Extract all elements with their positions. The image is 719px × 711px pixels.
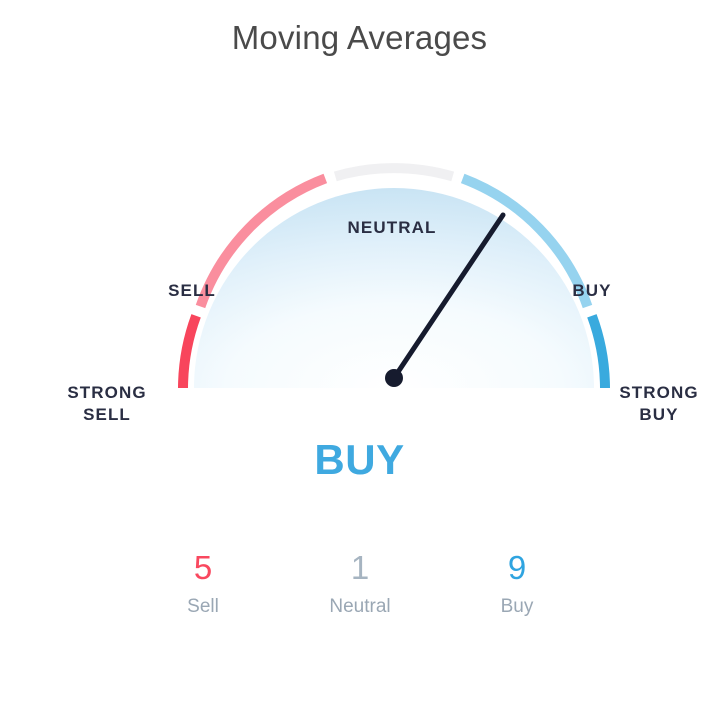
- verdict-text: BUY: [0, 436, 719, 484]
- gauge-needle-hub: [385, 369, 403, 387]
- counter-sell-label: Sell: [125, 592, 281, 622]
- page-title: Moving Averages: [0, 19, 719, 57]
- gauge-segment-neutral: [335, 168, 452, 176]
- gauge-label-strong-sell: STRONG SELL: [34, 382, 180, 426]
- gauge-label-strong-buy: STRONG BUY: [600, 382, 718, 426]
- gauge-segment-strong-buy: [592, 316, 605, 388]
- gauge-label-neutral: NEUTRAL: [292, 217, 492, 239]
- counter-buy-value: 9: [439, 548, 595, 588]
- counter-sell: 5 Sell: [125, 548, 281, 622]
- counter-neutral: 1 Neutral: [282, 548, 438, 622]
- counters-row: 5 Sell 1 Neutral 9 Buy: [125, 548, 595, 622]
- gauge-segment-strong-sell: [183, 316, 196, 388]
- gauge-chart: NEUTRAL SELL BUY STRONG SELL STRONG BUY: [0, 95, 719, 405]
- counter-buy: 9 Buy: [439, 548, 595, 622]
- gauge-label-sell: SELL: [132, 280, 252, 302]
- counter-sell-value: 5: [125, 548, 281, 588]
- counter-buy-label: Buy: [439, 592, 595, 622]
- counter-neutral-label: Neutral: [282, 592, 438, 622]
- gauge-label-buy: BUY: [532, 280, 652, 302]
- gauge-svg: [0, 95, 719, 405]
- counter-neutral-value: 1: [282, 548, 438, 588]
